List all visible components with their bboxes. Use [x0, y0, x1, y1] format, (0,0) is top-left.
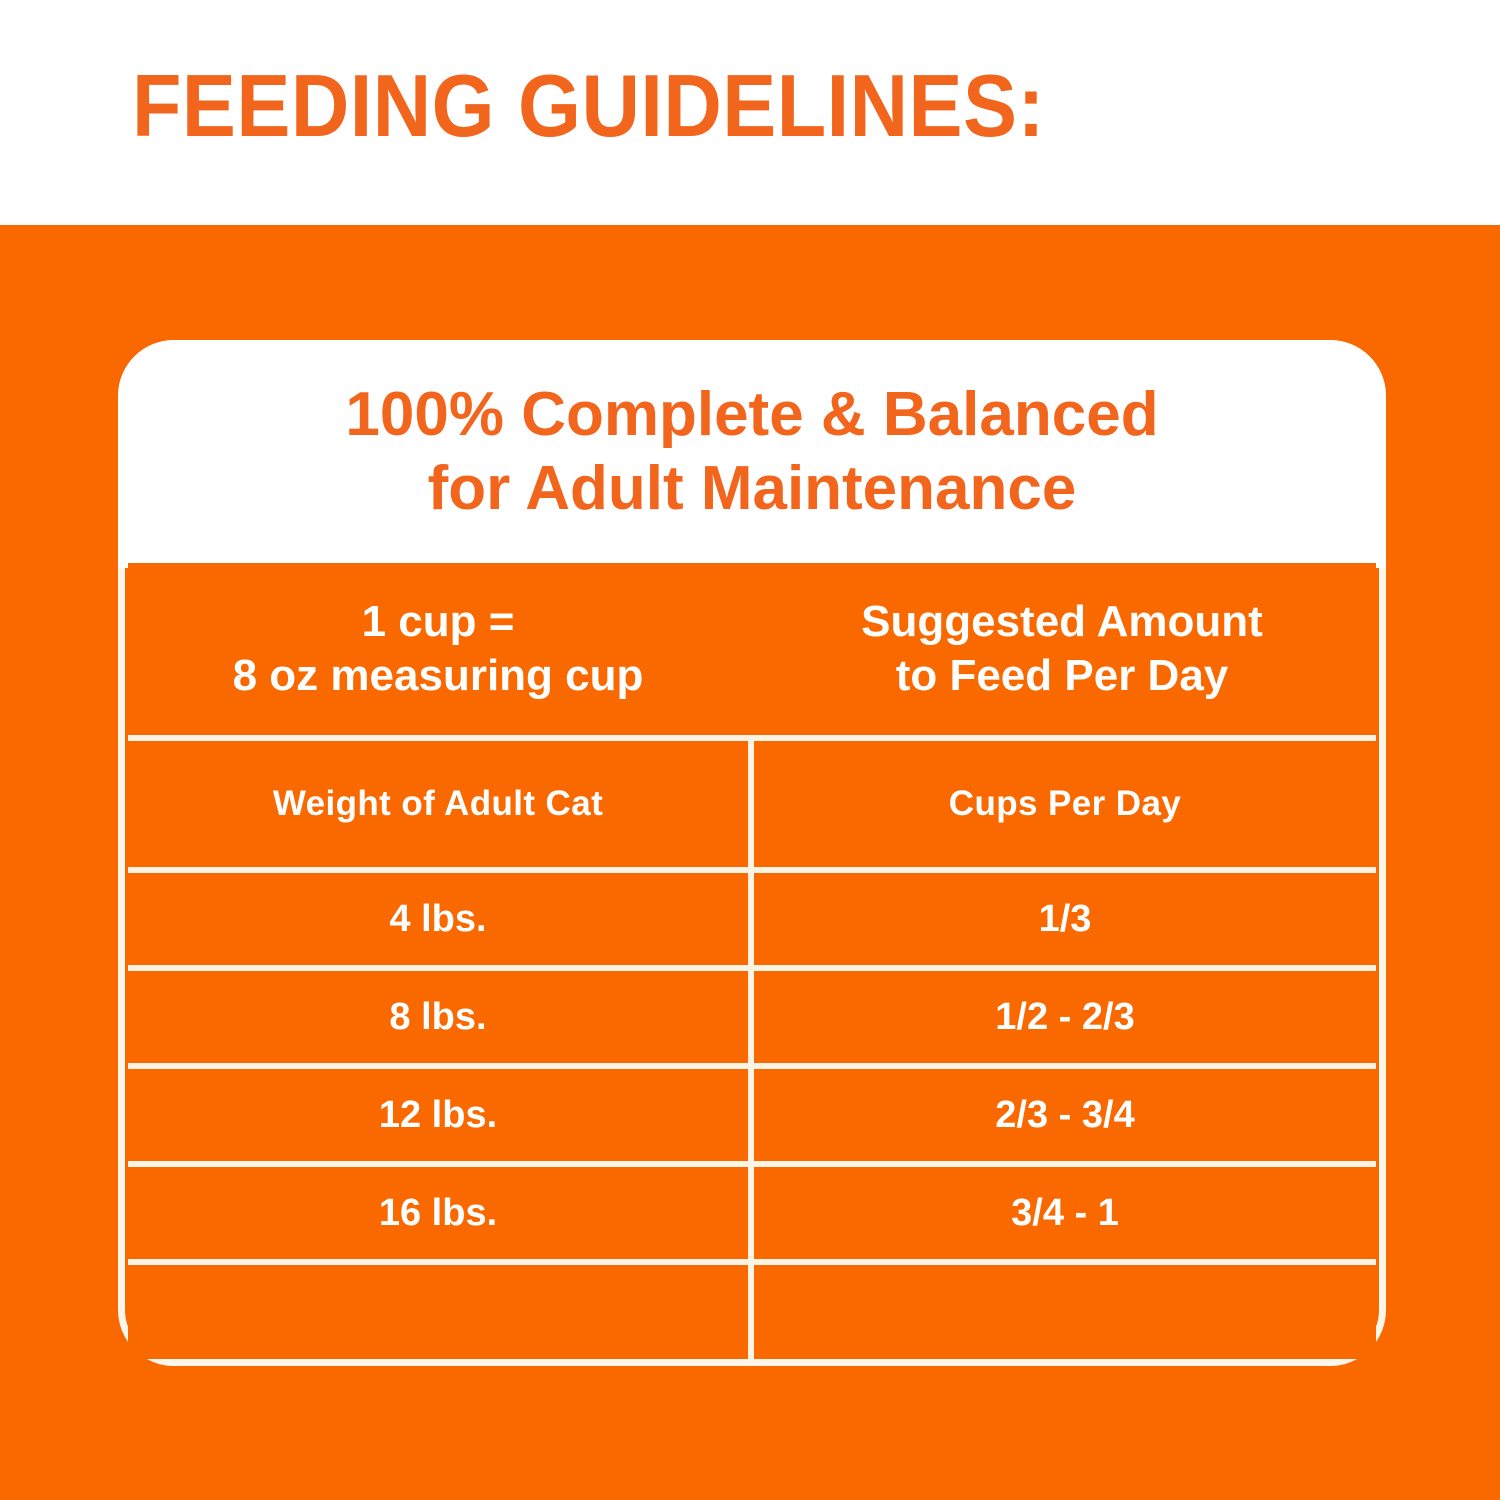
card-title-line-2: for Adult Maintenance: [118, 452, 1386, 526]
suggested-amount-line-2: to Feed Per Day: [861, 649, 1263, 703]
cell-cups: 1/2 - 2/3: [748, 971, 1376, 1063]
table-row: 16 lbs. 3/4 - 1: [128, 1161, 1376, 1259]
table-column-header-row: Weight of Adult Cat Cups Per Day: [128, 735, 1376, 867]
table-note-row: 1 cup = 8 oz measuring cup Suggested Amo…: [128, 563, 1376, 735]
table-row: 8 lbs. 1/2 - 2/3: [128, 965, 1376, 1063]
column-header-weight: Weight of Adult Cat: [128, 741, 748, 867]
cup-definition-cell: 1 cup = 8 oz measuring cup: [128, 563, 748, 735]
cell-weight: 4 lbs.: [128, 873, 748, 965]
suggested-amount-line-1: Suggested Amount: [861, 595, 1263, 649]
feeding-table: 1 cup = 8 oz measuring cup Suggested Amo…: [128, 563, 1376, 1359]
cell-weight: 12 lbs.: [128, 1069, 748, 1161]
table-row: 4 lbs. 1/3: [128, 867, 1376, 965]
cell-cups: 1/3: [748, 873, 1376, 965]
table-bottom-divider: [748, 1295, 754, 1359]
cell-cups: 3/4 - 1: [748, 1167, 1376, 1259]
suggested-amount-cell: Suggested Amount to Feed Per Day: [748, 563, 1376, 735]
cup-definition-line-2: 8 oz measuring cup: [233, 649, 644, 703]
feeding-guidelines-page: FEEDING GUIDELINES: 100% Complete & Bala…: [0, 0, 1500, 1500]
card-title: 100% Complete & Balanced for Adult Maint…: [118, 378, 1386, 526]
column-header-cups: Cups Per Day: [748, 741, 1376, 867]
cell-weight: 8 lbs.: [128, 971, 748, 1063]
cell-cups: 2/3 - 3/4: [748, 1069, 1376, 1161]
header-band: FEEDING GUIDELINES:: [0, 0, 1500, 225]
card-title-line-1: 100% Complete & Balanced: [118, 378, 1386, 452]
table-row: 12 lbs. 2/3 - 3/4: [128, 1063, 1376, 1161]
cup-definition-line-1: 1 cup =: [233, 595, 644, 649]
cell-weight: 16 lbs.: [128, 1167, 748, 1259]
page-title: FEEDING GUIDELINES:: [132, 56, 1045, 156]
